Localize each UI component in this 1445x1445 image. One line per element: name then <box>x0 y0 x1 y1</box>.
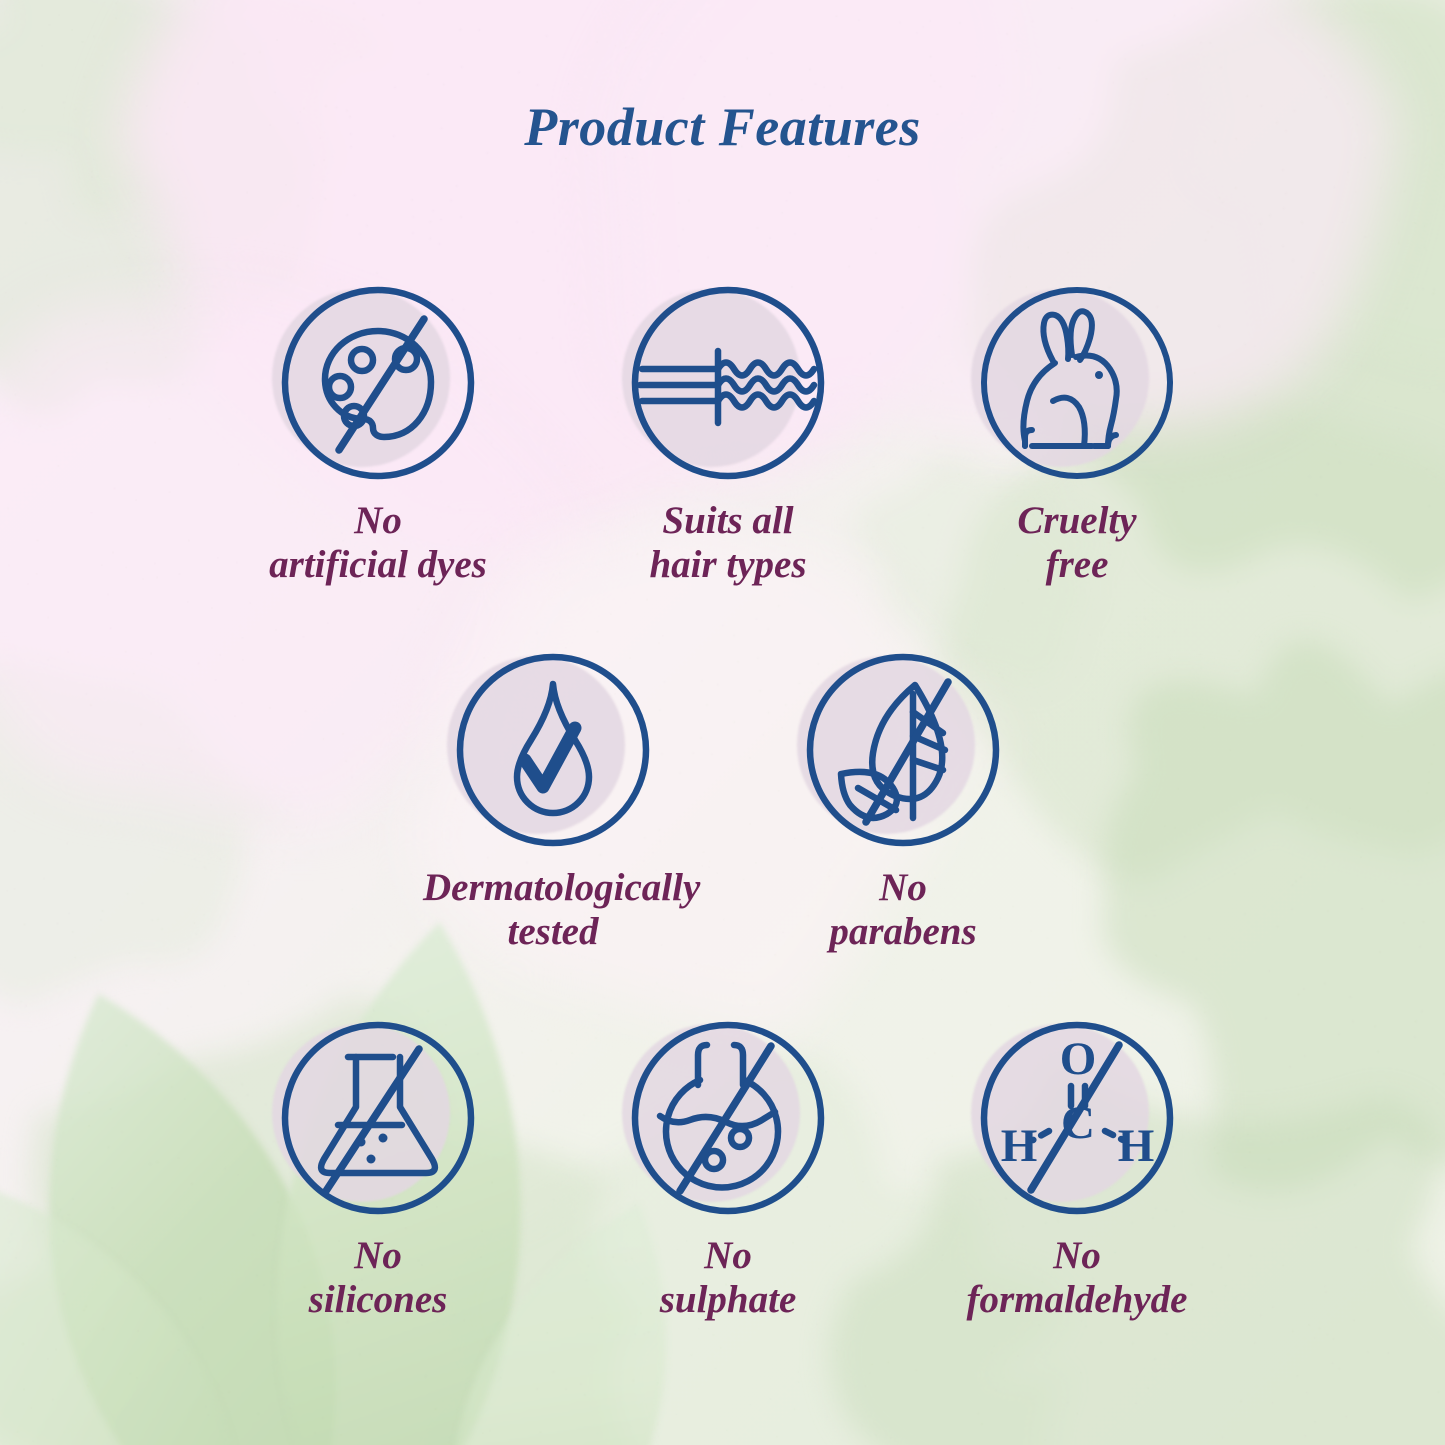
feature-cruelty-free: Cruelty free <box>947 283 1207 586</box>
molecule-atom-carbon: C <box>1061 1097 1095 1149</box>
no-artificial-dyes-icon <box>278 283 478 483</box>
icon-wrap <box>453 650 653 850</box>
feature-label: Dermatologically tested <box>423 866 683 953</box>
molecule-atom-hydrogen-left: H <box>1001 1120 1038 1172</box>
dermatologically-tested-droplet-icon <box>453 650 653 850</box>
feature-no-silicones: No silicones <box>248 1018 508 1321</box>
feature-no-artificial-dyes: No artificial dyes <box>248 283 508 586</box>
feature-no-parabens: No parabens <box>773 650 1033 953</box>
feature-dermatologically-tested: Dermatologically tested <box>423 650 683 953</box>
icon-wrap <box>628 283 828 483</box>
feature-all-hair-types: Suits all hair types <box>598 283 858 586</box>
feature-label: Cruelty free <box>947 499 1207 586</box>
feature-label: No sulphate <box>598 1234 858 1321</box>
no-silicones-flask-icon <box>278 1018 478 1218</box>
feature-label: Suits all hair types <box>598 499 858 586</box>
feature-no-sulphate: No sulphate <box>598 1018 858 1321</box>
icon-wrap <box>803 650 1003 850</box>
cruelty-free-rabbit-icon <box>977 283 1177 483</box>
product-features-infographic: Product Features No artificial dyes <box>0 0 1445 1445</box>
icon-wrap <box>628 1018 828 1218</box>
icon-wrap: O C H H <box>977 1018 1177 1218</box>
feature-label: No artificial dyes <box>248 499 508 586</box>
feature-label: No formaldehyde <box>947 1234 1207 1321</box>
feature-label: No silicones <box>248 1234 508 1321</box>
no-sulphate-flask-icon <box>628 1018 828 1218</box>
page-title: Product Features <box>0 96 1445 158</box>
no-parabens-leaf-icon <box>803 650 1003 850</box>
no-formaldehyde-molecule-icon: O C H H <box>977 1018 1177 1218</box>
icon-wrap <box>278 283 478 483</box>
molecule-atom-oxygen: O <box>1060 1033 1097 1085</box>
icon-wrap <box>977 283 1177 483</box>
all-hair-types-icon <box>628 283 828 483</box>
feature-no-formaldehyde: O C H H No formaldehyde <box>947 1018 1207 1321</box>
icon-wrap <box>278 1018 478 1218</box>
molecule-atom-hydrogen-right: H <box>1118 1120 1155 1172</box>
feature-label: No parabens <box>773 866 1033 953</box>
